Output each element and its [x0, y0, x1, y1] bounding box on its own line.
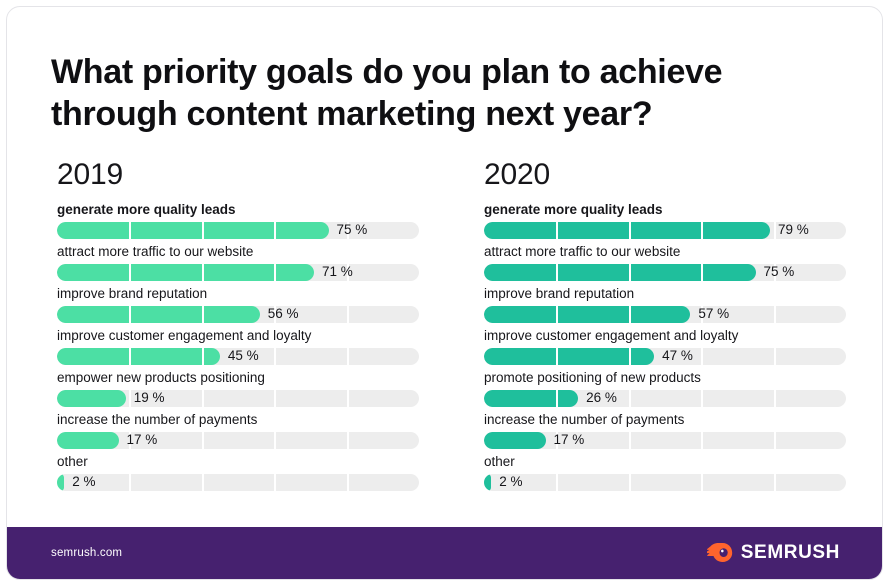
segment-dividers: [57, 390, 419, 407]
bar-row: attract more traffic to our website 75 %: [478, 245, 846, 287]
bar-row: improve brand reputation 57 %: [478, 287, 846, 329]
bar-rows-2019: generate more quality leads 75 % attract…: [51, 203, 419, 497]
bar-row: other 2 %: [478, 455, 846, 497]
bar-rows-2020: generate more quality leads 79 % attract…: [478, 203, 846, 497]
bar-row: generate more quality leads 75 %: [51, 203, 419, 245]
segment-dividers: [484, 474, 846, 491]
bar-track-wrap: [57, 390, 419, 407]
bar-track-wrap: [484, 432, 846, 449]
bar-track: [57, 264, 419, 281]
bar-row: other 2 %: [51, 455, 419, 497]
bar-track-wrap: [57, 432, 419, 449]
bar-value-label: 26 %: [586, 389, 617, 406]
bar-row: promote positioning of new products 26 %: [478, 371, 846, 413]
bar-track: [484, 474, 846, 491]
segment-dividers: [484, 390, 846, 407]
chart-panel-2020: 2020 generate more quality leads 79 % at…: [478, 159, 846, 497]
bar-label: improve customer engagement and loyalty: [484, 328, 738, 344]
segment-dividers: [484, 432, 846, 449]
bar-track-wrap: [484, 306, 846, 323]
bar-row: increase the number of payments 17 %: [51, 413, 419, 455]
infographic-card: What priority goals do you plan to achie…: [6, 6, 883, 580]
bar-label: improve customer engagement and loyalty: [57, 328, 311, 344]
bar-row: improve customer engagement and loyalty …: [478, 329, 846, 371]
bar-value-label: 2 %: [499, 473, 522, 490]
brand-lockup: SEMRUSH: [707, 542, 840, 564]
bar-value-label: 71 %: [322, 263, 353, 280]
bar-value-label: 57 %: [698, 305, 729, 322]
semrush-comet-icon: [707, 543, 733, 563]
bar-value-label: 79 %: [778, 221, 809, 238]
bar-label: attract more traffic to our website: [484, 244, 680, 260]
bar-track: [57, 306, 419, 323]
bar-track: [57, 432, 419, 449]
bar-label: increase the number of payments: [57, 412, 257, 428]
bar-row: increase the number of payments 17 %: [478, 413, 846, 455]
segment-dividers: [57, 264, 419, 281]
bar-label: generate more quality leads: [484, 202, 663, 218]
chart-panel-2019: 2019 generate more quality leads 75 % at…: [51, 159, 419, 497]
bar-value-label: 75 %: [337, 221, 368, 238]
segment-dividers: [57, 474, 419, 491]
page-title: What priority goals do you plan to achie…: [51, 51, 831, 135]
bar-label: other: [484, 454, 515, 470]
bar-value-label: 2 %: [72, 473, 95, 490]
bar-row: attract more traffic to our website 71 %: [51, 245, 419, 287]
segment-dividers: [57, 306, 419, 323]
panel-year-2020: 2020: [478, 159, 846, 191]
bar-label: empower new products positioning: [57, 370, 265, 386]
bar-value-label: 17 %: [554, 431, 585, 448]
bar-row: generate more quality leads 79 %: [478, 203, 846, 245]
bar-track: [484, 306, 846, 323]
bar-track: [484, 390, 846, 407]
bar-track-wrap: [484, 474, 846, 491]
segment-dividers: [57, 432, 419, 449]
brand-name: SEMRUSH: [741, 542, 840, 564]
bar-row: improve customer engagement and loyalty …: [51, 329, 419, 371]
footer-website-url[interactable]: semrush.com: [51, 547, 122, 559]
bar-track-wrap: [57, 474, 419, 491]
bar-value-label: 56 %: [268, 305, 299, 322]
bar-label: increase the number of payments: [484, 412, 684, 428]
bar-value-label: 75 %: [764, 263, 795, 280]
bar-label: improve brand reputation: [484, 286, 634, 302]
bar-track: [57, 390, 419, 407]
panel-year-2019: 2019: [51, 159, 419, 191]
bar-value-label: 19 %: [134, 389, 165, 406]
footer-bar: semrush.com SEMRUSH: [7, 527, 883, 579]
bar-value-label: 17 %: [127, 431, 158, 448]
bar-row: empower new products positioning 19 %: [51, 371, 419, 413]
bar-track-wrap: [57, 306, 419, 323]
bar-value-label: 45 %: [228, 347, 259, 364]
bar-label: other: [57, 454, 88, 470]
bar-label: promote positioning of new products: [484, 370, 701, 386]
bar-track-wrap: [57, 264, 419, 281]
bar-row: improve brand reputation 56 %: [51, 287, 419, 329]
bar-track: [57, 474, 419, 491]
bar-track-wrap: [484, 390, 846, 407]
bar-label: attract more traffic to our website: [57, 244, 253, 260]
bar-label: improve brand reputation: [57, 286, 207, 302]
bar-value-label: 47 %: [662, 347, 693, 364]
bar-track: [484, 432, 846, 449]
bar-label: generate more quality leads: [57, 202, 236, 218]
segment-dividers: [484, 306, 846, 323]
